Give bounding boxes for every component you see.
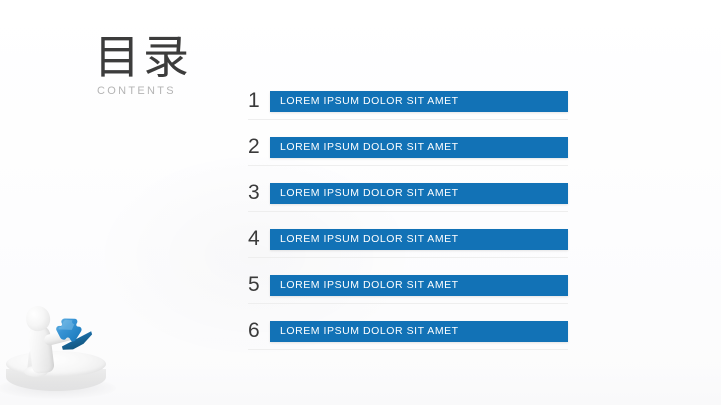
list-item-separator [248,257,568,258]
list-item[interactable]: 3 LOREM IPSUM DOLOR SIT AMET [248,178,568,224]
list-item-number: 2 [248,135,270,159]
list-item-label: LOREM IPSUM DOLOR SIT AMET [270,325,459,337]
page-title: 目录 [94,32,314,82]
pedestal-top [6,351,106,377]
list-item-number: 6 [248,319,270,343]
list-item-label: LOREM IPSUM DOLOR SIT AMET [270,141,459,153]
list-item-label: LOREM IPSUM DOLOR SIT AMET [270,233,459,245]
list-item-separator [248,165,568,166]
list-item-separator [248,211,568,212]
list-item-bar[interactable]: LOREM IPSUM DOLOR SIT AMET [270,229,568,250]
figure-illustration [0,277,124,401]
puzzle-piece-icon [50,310,100,354]
list-item-number: 5 [248,273,270,297]
list-item[interactable]: 4 LOREM IPSUM DOLOR SIT AMET [248,224,568,270]
list-item-bar[interactable]: LOREM IPSUM DOLOR SIT AMET [270,183,568,204]
list-item-label: LOREM IPSUM DOLOR SIT AMET [270,95,459,107]
list-item-label: LOREM IPSUM DOLOR SIT AMET [270,279,459,291]
list-item-number: 1 [248,89,270,113]
list-item[interactable]: 6 LOREM IPSUM DOLOR SIT AMET [248,316,568,362]
list-item-separator [248,349,568,350]
list-item-number: 4 [248,227,270,251]
list-item-number: 3 [248,181,270,205]
list-item[interactable]: 5 LOREM IPSUM DOLOR SIT AMET [248,270,568,316]
list-item-bar[interactable]: LOREM IPSUM DOLOR SIT AMET [270,137,568,158]
list-item-bar[interactable]: LOREM IPSUM DOLOR SIT AMET [270,275,568,296]
list-item-label: LOREM IPSUM DOLOR SIT AMET [270,187,459,199]
list-item[interactable]: 1 LOREM IPSUM DOLOR SIT AMET [248,86,568,132]
list-item-bar[interactable]: LOREM IPSUM DOLOR SIT AMET [270,321,568,342]
contents-list: 1 LOREM IPSUM DOLOR SIT AMET 2 LOREM IPS… [248,86,568,362]
list-item-separator [248,303,568,304]
figure-body [27,324,55,374]
list-item-bar[interactable]: LOREM IPSUM DOLOR SIT AMET [270,91,568,112]
slide-canvas: 目录 CONTENTS 1 LOREM IPSUM DOLOR SIT AMET… [0,0,721,405]
list-item-separator [248,119,568,120]
list-item[interactable]: 2 LOREM IPSUM DOLOR SIT AMET [248,132,568,178]
